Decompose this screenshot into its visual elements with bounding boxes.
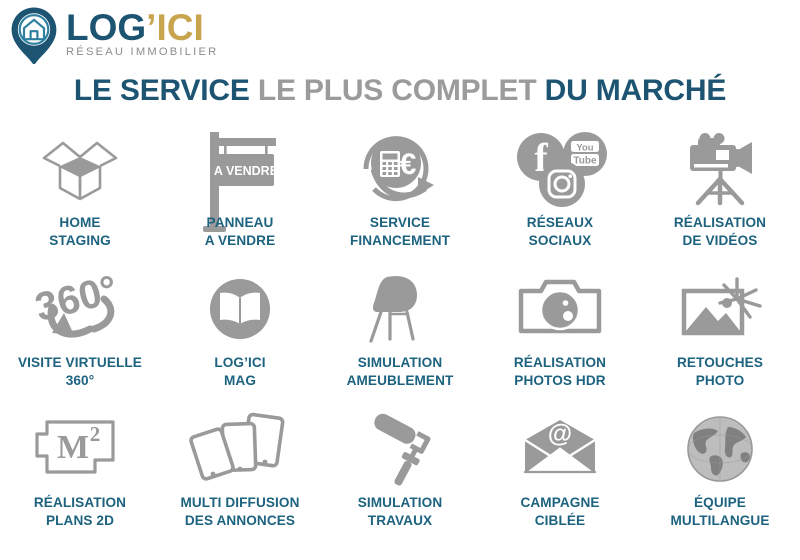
- service-item-simulation-ameublement[interactable]: SIMULATION AMEUBLEMENT: [320, 268, 480, 408]
- service-item-reseaux-sociaux[interactable]: f You Tube RÉSEAUX SOCIAUX: [480, 128, 640, 268]
- service-item-retouches-photo[interactable]: RETOUCHES PHOTO: [640, 268, 800, 408]
- picture-sparkle-icon: [676, 268, 764, 350]
- 360-degree-arrow-icon: 360°: [28, 268, 132, 350]
- service-label: MULTI DIFFUSION DES ANNONCES: [180, 494, 299, 530]
- service-label: SIMULATION AMEUBLEMENT: [347, 354, 454, 390]
- at-symbol: @: [548, 420, 572, 448]
- service-item-home-staging[interactable]: HOME STAGING: [0, 128, 160, 268]
- for-sale-sign-icon: A VENDRE: [192, 128, 288, 210]
- instagram-icon: [539, 161, 585, 207]
- map-pin-house-icon: [8, 6, 60, 71]
- paint-roller-icon: [358, 408, 442, 490]
- service-item-equipe-multilangue[interactable]: ÉQUIPE MULTILANGUE: [640, 408, 800, 548]
- service-item-multi-diffusion-des-annonces[interactable]: MULTI DIFFUSION DES ANNONCES: [160, 408, 320, 548]
- service-label: HOME STAGING: [49, 214, 111, 250]
- service-item-simulation-travaux[interactable]: SIMULATION TRAVAUX: [320, 408, 480, 548]
- globe-icon: [682, 408, 758, 490]
- page-title-part-2: LE PLUS COMPLET: [258, 74, 545, 107]
- service-item-realisation-plans-2d[interactable]: M 2 RÉALISATION PLANS 2D: [0, 408, 160, 548]
- envelope-at-icon: @: [517, 408, 603, 490]
- page-title: LE SERVICE LE PLUS COMPLET DU MARCHÉ: [0, 74, 800, 108]
- service-item-visite-virtuelle-360[interactable]: 360° VISITE VIRTUELLE 360°: [0, 268, 160, 408]
- service-item-realisation-photos-hdr[interactable]: RÉALISATION PHOTOS HDR: [480, 268, 640, 408]
- plan-exponent-text: 2: [90, 422, 101, 446]
- service-label: ÉQUIPE MULTILANGUE: [670, 494, 769, 530]
- service-label: RÉALISATION PHOTOS HDR: [514, 354, 606, 390]
- page-title-part-3: DU MARCHÉ: [545, 74, 727, 107]
- logo-word-ici: ’ICI: [146, 7, 204, 48]
- service-label: VISITE VIRTUELLE 360°: [18, 354, 142, 390]
- logo-word-log: LOG: [66, 7, 146, 48]
- open-book-circle-icon: [202, 268, 278, 350]
- service-label: PANNEAU A VENDRE: [205, 214, 276, 250]
- plan-m-text: M: [57, 429, 89, 466]
- page-title-part-1: LE SERVICE: [74, 74, 258, 107]
- service-label: LOG’ICI MAG: [214, 354, 265, 390]
- logo-wordmark: LOG’ICI: [66, 8, 218, 48]
- chair-icon: [357, 268, 443, 350]
- sign-text: A VENDRE: [214, 164, 278, 178]
- brand-logo: LOG’ICI RÉSEAU IMMOBILIER: [8, 6, 218, 71]
- social-networks-icon: f You Tube: [505, 128, 615, 210]
- service-item-campagne-ciblee[interactable]: @ CAMPAGNE CIBLÉE: [480, 408, 640, 548]
- open-box-icon: [38, 128, 122, 210]
- service-item-panneau-a-vendre[interactable]: A VENDRE PANNEAU A VENDRE: [160, 128, 320, 268]
- service-label: RETOUCHES PHOTO: [677, 354, 763, 390]
- service-label: RÉSEAUX SOCIAUX: [527, 214, 593, 250]
- euro-calculator-arrow-icon: €: [352, 128, 448, 210]
- service-label: SERVICE FINANCEMENT: [350, 214, 450, 250]
- service-label: RÉALISATION PLANS 2D: [34, 494, 126, 530]
- service-item-realisation-de-videos[interactable]: RÉALISATION DE VIDÉOS: [640, 128, 800, 268]
- service-item-logici-mag[interactable]: LOG’ICI MAG: [160, 268, 320, 408]
- service-label: CAMPAGNE CIBLÉE: [520, 494, 599, 530]
- logo-tagline: RÉSEAU IMMOBILIER: [66, 46, 218, 59]
- floorplan-m2-icon: M 2: [33, 408, 127, 490]
- svg-text:Tube: Tube: [573, 156, 597, 167]
- euro-symbol: €: [400, 148, 417, 181]
- service-item-service-financement[interactable]: € SERVICE FINANCEMENT: [320, 128, 480, 268]
- svg-text:You: You: [576, 143, 593, 154]
- service-label: SIMULATION TRAVAUX: [358, 494, 443, 530]
- service-label: RÉALISATION DE VIDÉOS: [674, 214, 766, 250]
- services-grid: HOME STAGING A VENDRE PANNEAU A VENDRE: [0, 128, 800, 548]
- video-camera-tripod-icon: [674, 128, 766, 210]
- multi-devices-icon: [188, 408, 292, 490]
- photo-camera-icon: [517, 268, 603, 350]
